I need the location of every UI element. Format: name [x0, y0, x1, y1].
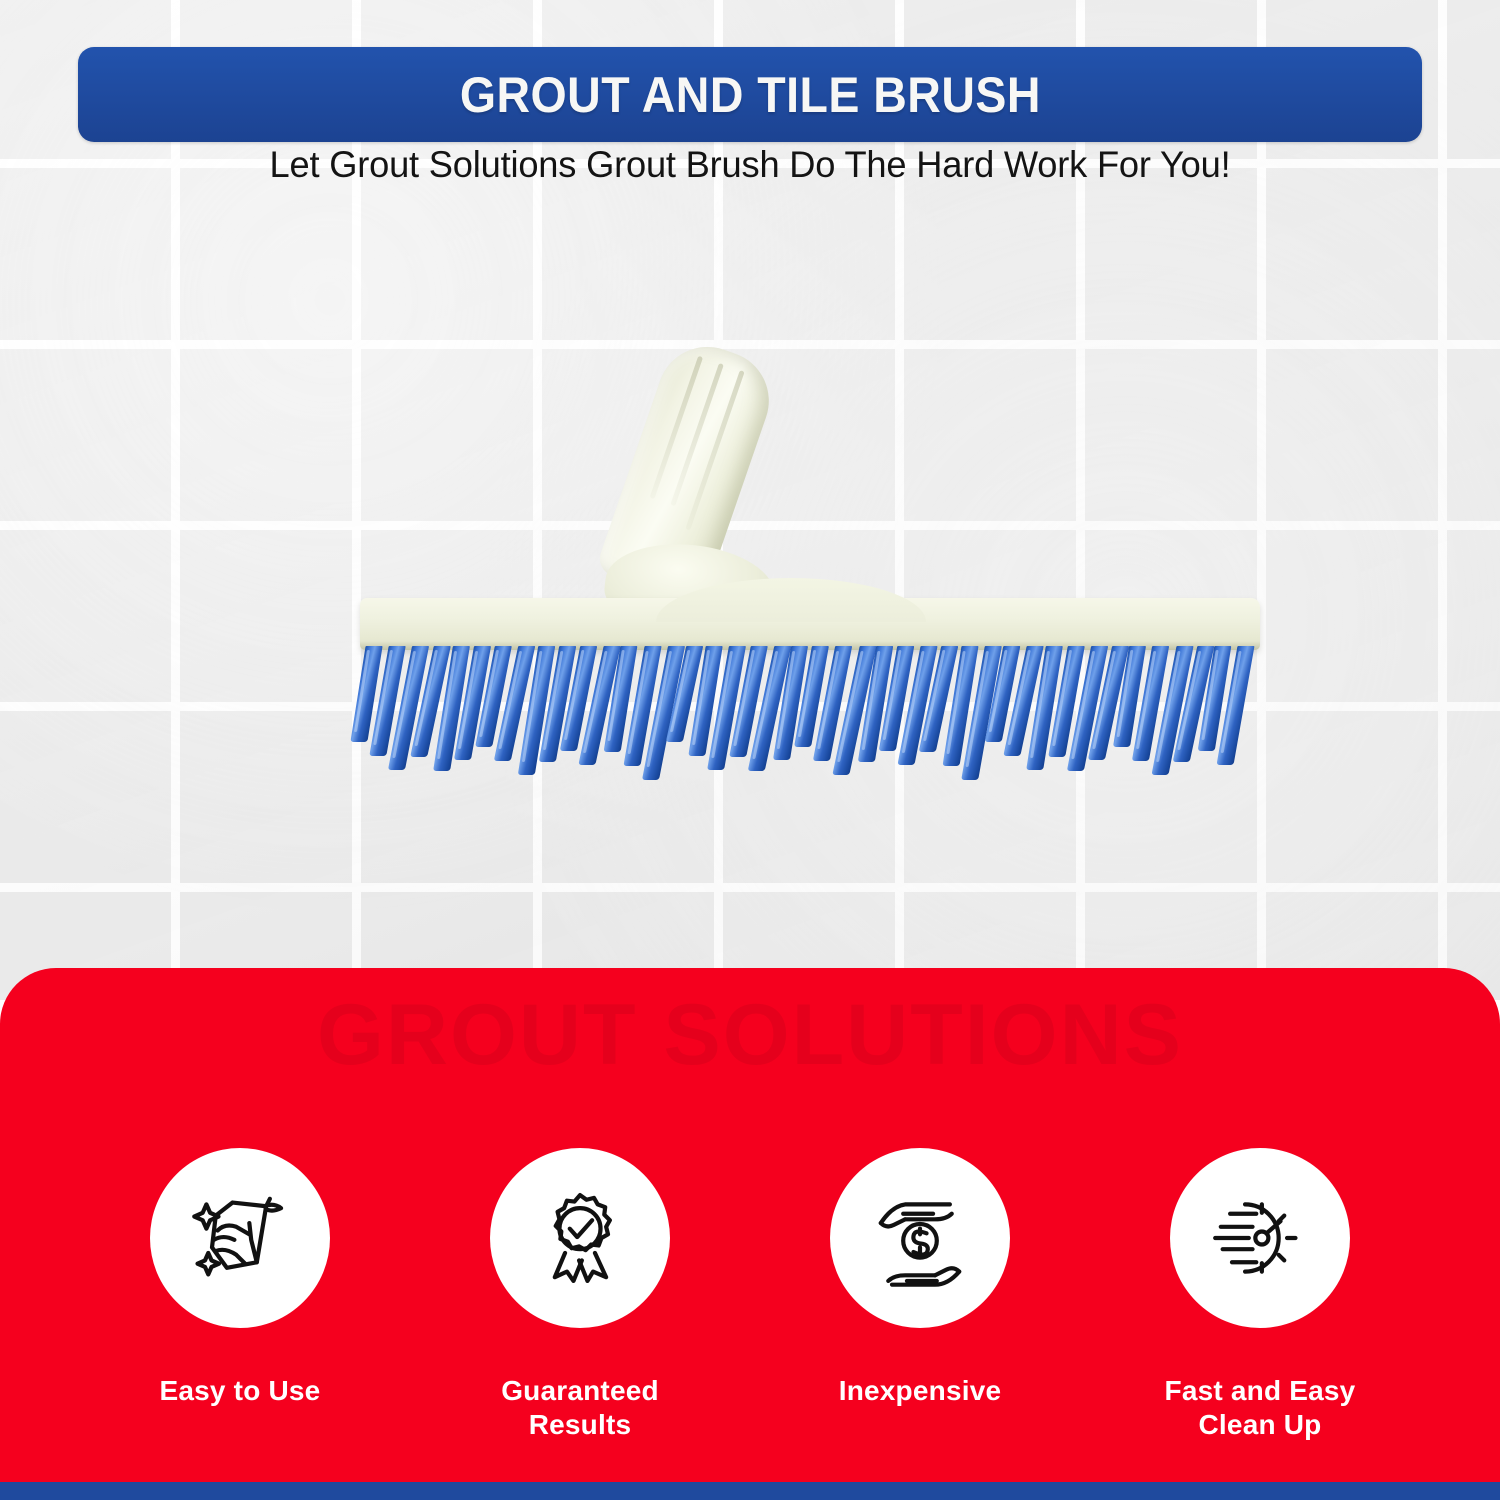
- page-subtitle: Let Grout Solutions Grout Brush Do The H…: [15, 144, 1485, 186]
- feature-label: Guaranteed Results: [501, 1374, 659, 1442]
- wiping-hand-cloth-sparkle-icon: [184, 1182, 296, 1294]
- features-panel: GROUT SOLUTIONS: [0, 968, 1500, 1484]
- award-ribbon-check-icon: [524, 1182, 636, 1294]
- feature-label: Fast and Easy Clean Up: [1165, 1374, 1356, 1442]
- header-banner: GROUT AND TILE BRUSH: [78, 47, 1422, 142]
- footer-bar: [0, 1482, 1500, 1500]
- feature-label: Easy to Use: [160, 1374, 321, 1408]
- handle-rib: [670, 363, 724, 506]
- brush-bristles: [358, 646, 1263, 781]
- product-image-grout-brush: [330, 330, 1260, 790]
- panel-watermark: GROUT SOLUTIONS: [0, 986, 1500, 1085]
- hands-holding-dollar-coin-icon: [864, 1182, 976, 1294]
- product-infographic: GROUT AND TILE BRUSH Let Grout Solutions…: [0, 0, 1500, 1500]
- feature-item-inexpensive: Inexpensive: [750, 1148, 1090, 1408]
- feature-item-guaranteed-results: Guaranteed Results: [410, 1148, 750, 1442]
- feature-item-fast-and-easy-clean-up: Fast and Easy Clean Up: [1090, 1148, 1430, 1442]
- feature-item-easy-to-use: Easy to Use: [70, 1148, 410, 1408]
- handle-rib: [650, 356, 704, 499]
- speed-stopwatch-icon: [1204, 1182, 1316, 1294]
- features-row: Easy to Use Guaranteed Results: [0, 1148, 1500, 1442]
- brush-head-bar: [360, 598, 1260, 650]
- feature-icon-badge: [490, 1148, 670, 1328]
- feature-icon-badge: [1170, 1148, 1350, 1328]
- feature-label: Inexpensive: [839, 1374, 1002, 1408]
- feature-icon-badge: [150, 1148, 330, 1328]
- feature-icon-badge: [830, 1148, 1010, 1328]
- page-title: GROUT AND TILE BRUSH: [459, 66, 1040, 124]
